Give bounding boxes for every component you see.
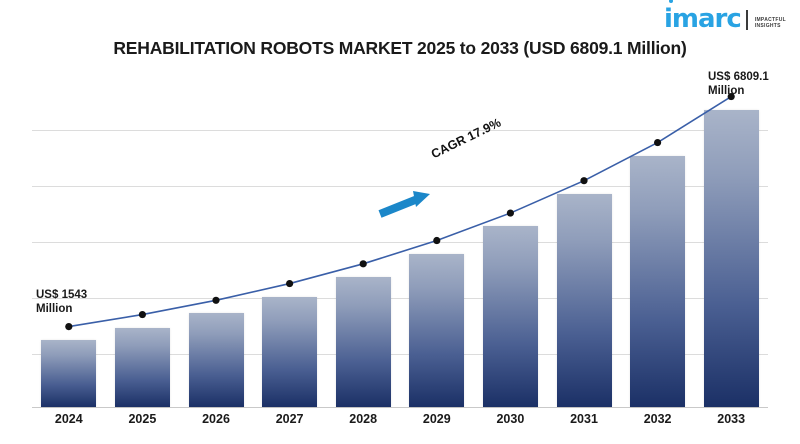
trend-line-layer	[32, 76, 768, 408]
data-point-2032	[654, 139, 661, 146]
x-axis-label-2026: 2026	[179, 412, 253, 426]
imarc-logo: imarc IMPACTFUL INSIGHTS	[664, 6, 786, 32]
x-axis-labels: 2024202520262027202820292030203120322033	[32, 412, 768, 438]
data-point-2024	[65, 323, 72, 330]
x-axis-label-2025: 2025	[105, 412, 179, 426]
end-value-label: US$ 6809.1 Million	[708, 70, 769, 98]
x-axis-label-2031: 2031	[547, 412, 621, 426]
x-axis-label-2032: 2032	[621, 412, 695, 426]
x-axis-label-2024: 2024	[32, 412, 106, 426]
chart-title: REHABILITATION ROBOTS MARKET 2025 to 203…	[0, 38, 800, 59]
start-value-line1: US$ 1543	[36, 288, 87, 302]
cagr-arrow-icon	[380, 191, 430, 214]
data-point-2028	[360, 260, 367, 267]
data-point-2026	[212, 297, 219, 304]
chart-page: imarc IMPACTFUL INSIGHTS REHABILITATION …	[0, 0, 800, 444]
x-axis-label-2029: 2029	[400, 412, 474, 426]
logo-divider	[746, 10, 748, 30]
plot-area	[32, 76, 768, 408]
logo-text: imarc	[664, 4, 741, 34]
x-axis-label-2028: 2028	[326, 412, 400, 426]
end-value-line1: US$ 6809.1	[708, 70, 769, 84]
logo-dot-icon	[669, 0, 673, 3]
data-point-2025	[139, 311, 146, 318]
logo-tagline-line2: INSIGHTS	[755, 23, 786, 29]
x-axis-label-2030: 2030	[473, 412, 547, 426]
data-point-2027	[286, 280, 293, 287]
end-value-line2: Million	[708, 84, 769, 98]
data-point-2029	[433, 237, 440, 244]
start-value-line2: Million	[36, 302, 87, 316]
x-axis-label-2033: 2033	[694, 412, 768, 426]
logo-tagline: IMPACTFUL INSIGHTS	[755, 17, 786, 29]
start-value-label: US$ 1543 Million	[36, 288, 87, 316]
data-point-2031	[580, 177, 587, 184]
data-point-2030	[507, 209, 514, 216]
trend-line	[69, 97, 731, 327]
logo-wordmark: imarc	[664, 6, 741, 32]
x-axis-label-2027: 2027	[253, 412, 327, 426]
